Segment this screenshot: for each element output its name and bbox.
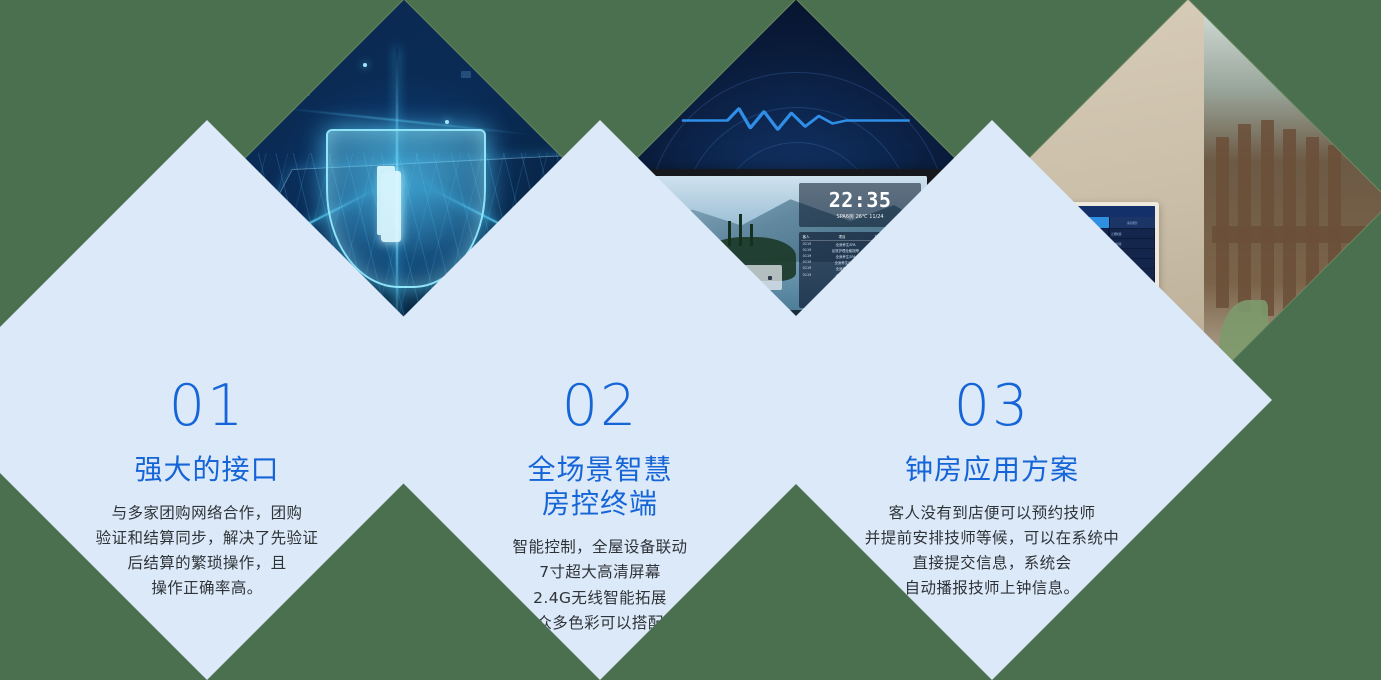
card-body-line: 客人没有到店便可以预约技师: [865, 501, 1119, 526]
service-cell: 0119: [803, 266, 812, 271]
card-body-line: 众多色彩可以搭配: [513, 611, 688, 636]
heartbeat-icon: [682, 104, 910, 134]
service-cell: 足底护理全套按摩: [832, 248, 859, 253]
service-cell: 全身养生SPA: [836, 242, 856, 247]
card-number: 01: [169, 378, 246, 435]
card-title-line: 全场景智慧: [527, 453, 672, 487]
card-number: 02: [562, 378, 639, 435]
service-cell: 0119: [803, 242, 812, 247]
card-body-line: 7寸超大高清屏幕: [513, 560, 688, 585]
room-window: [1204, 0, 1381, 406]
card-title: 钟房应用方案: [905, 453, 1079, 487]
card-title: 全场景智慧房控终端: [527, 453, 672, 521]
card-body-line: 直接提交信息，系统会: [865, 551, 1119, 576]
card-body: 客人没有到店便可以预约技师并提前安排技师等候，可以在系统中直接提交信息，系统会自…: [865, 501, 1119, 601]
panel-list-item[interactable]: 正脚按摩: [1110, 229, 1154, 238]
service-cell: 0119: [803, 254, 812, 259]
card-body-line: 后结算的繁琐操作，且: [96, 551, 319, 576]
card-body: 智能控制，全屋设备联动7寸超大高清屏幕2.4G无线智能拓展众多色彩可以搭配: [513, 535, 688, 635]
card-title-line: 强大的接口: [134, 453, 279, 487]
service-cell: 0119: [803, 248, 812, 253]
service-cell: 0119: [803, 260, 812, 265]
poster-stage: 22:35 SPA6房 26℃ 11/24 客人 项目 技师 状态 0119全身…: [0, 0, 1381, 603]
clock-time: 22:35: [829, 190, 892, 210]
card-body-line: 验证和结算同步，解决了先验证: [96, 526, 319, 551]
card-body: 与多家团购网络合作，团购验证和结算同步，解决了先验证后结算的繁琐操作，且操作正确…: [96, 501, 319, 601]
clock-subtitle: SPA6房 26℃ 11/24: [837, 213, 884, 220]
card-title-line: 房控终端: [527, 487, 672, 521]
card-body-line: 与多家团购网络合作，团购: [96, 501, 319, 526]
card-body-line: 2.4G无线智能拓展: [513, 586, 688, 611]
card-body-line: 智能控制，全屋设备联动: [513, 535, 688, 560]
card-body-line: 操作正确率高。: [96, 576, 319, 601]
card-title-line: 钟房应用方案: [905, 453, 1079, 487]
service-cell: 0119: [803, 273, 812, 278]
card-number: 03: [954, 378, 1031, 435]
card-body-line: 并提前安排技师等候，可以在系统中: [865, 526, 1119, 551]
card-body-line: 自动播报技师上钟信息。: [865, 576, 1119, 601]
th-guest: 客人: [803, 234, 810, 239]
card-title: 强大的接口: [134, 453, 279, 487]
panel-tab[interactable]: 客房服务: [1110, 217, 1155, 228]
th-item: 项目: [839, 234, 846, 239]
